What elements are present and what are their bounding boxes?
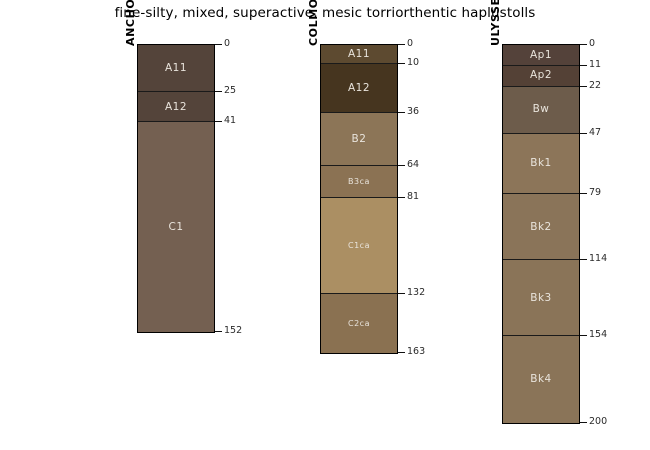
horizon-label: C1ca — [348, 242, 370, 250]
horizon-bw[interactable]: Bw — [503, 87, 579, 134]
profile-name-label: COLMOR — [307, 0, 320, 46]
horizon-b3ca[interactable]: B3ca — [321, 166, 397, 198]
depth-tick-label: 47 — [589, 128, 601, 138]
depth-tick-label: 132 — [407, 288, 425, 298]
depth-tick-label: 41 — [224, 116, 236, 126]
horizon-label: Bw — [533, 104, 550, 115]
depth-tick-mark — [398, 352, 405, 353]
depth-tick-label: 79 — [589, 188, 601, 198]
depth-tick-label: 114 — [589, 254, 607, 264]
horizon-label: B2 — [352, 134, 367, 145]
horizon-label: C2ca — [348, 320, 370, 328]
horizon-bk3[interactable]: Bk3 — [503, 260, 579, 336]
horizon-label: C1 — [168, 222, 183, 233]
depth-tick-label: 25 — [224, 86, 236, 96]
depth-tick-label: 11 — [589, 60, 601, 70]
horizon-a11[interactable]: A11 — [321, 45, 397, 64]
horizon-c2ca[interactable]: C2ca — [321, 294, 397, 353]
depth-tick-mark — [215, 331, 222, 332]
depth-tick-mark — [215, 44, 222, 45]
horizon-label: A11 — [348, 49, 370, 60]
depth-tick-label: 22 — [589, 81, 601, 91]
depth-tick-mark — [215, 91, 222, 92]
depth-tick-mark — [398, 44, 405, 45]
horizon-bk2[interactable]: Bk2 — [503, 194, 579, 260]
depth-tick-mark — [398, 197, 405, 198]
depth-tick-label: 0 — [589, 39, 595, 49]
depth-tick-label: 163 — [407, 347, 425, 357]
depth-tick-label: 10 — [407, 58, 419, 68]
depth-axis: 011224779114154200 — [580, 0, 626, 450]
depth-tick-label: 200 — [589, 417, 607, 427]
depth-tick-label: 0 — [407, 39, 413, 49]
depth-tick-label: 36 — [407, 107, 419, 117]
depth-tick-mark — [580, 133, 587, 134]
depth-tick-mark — [580, 86, 587, 87]
soil-profile-figure: fine-silty, mixed, superactive, mesic to… — [0, 0, 650, 450]
depth-tick-mark — [398, 112, 405, 113]
horizon-label: B3ca — [348, 178, 370, 186]
depth-tick-mark — [580, 65, 587, 66]
depth-tick-mark — [580, 193, 587, 194]
horizon-a12[interactable]: A12 — [321, 64, 397, 113]
profile-column: A11A12B2B3caC1caC2ca — [320, 44, 398, 354]
soil-profile-ulysses: ULYSSESAp1Ap2BwBk1Bk2Bk3Bk40112247791141… — [0, 0, 170, 450]
horizon-bk4[interactable]: Bk4 — [503, 336, 579, 423]
depth-tick-mark — [580, 422, 587, 423]
depth-axis: 010366481132163 — [398, 0, 444, 450]
horizon-label: Ap2 — [530, 70, 552, 81]
horizon-label: Bk3 — [530, 293, 551, 304]
depth-tick-mark — [398, 165, 405, 166]
horizon-label: Bk1 — [530, 158, 551, 169]
horizon-label: Bk4 — [530, 374, 551, 385]
horizon-bk1[interactable]: Bk1 — [503, 134, 579, 194]
depth-tick-mark — [398, 63, 405, 64]
depth-tick-mark — [398, 293, 405, 294]
depth-tick-mark — [580, 335, 587, 336]
depth-tick-label: 81 — [407, 192, 419, 202]
horizon-ap1[interactable]: Ap1 — [503, 45, 579, 66]
horizon-label: Bk2 — [530, 222, 551, 233]
depth-tick-mark — [215, 121, 222, 122]
depth-tick-label: 64 — [407, 160, 419, 170]
depth-axis: 02541152 — [215, 0, 261, 450]
profile-name-label: ULYSSES — [489, 0, 502, 46]
depth-tick-mark — [580, 44, 587, 45]
horizon-c1ca[interactable]: C1ca — [321, 198, 397, 294]
horizon-label: Ap1 — [530, 50, 552, 61]
horizon-ap2[interactable]: Ap2 — [503, 66, 579, 87]
profile-column: Ap1Ap2BwBk1Bk2Bk3Bk4 — [502, 44, 580, 424]
depth-tick-label: 154 — [589, 330, 607, 340]
depth-tick-mark — [580, 259, 587, 260]
depth-tick-label: 0 — [224, 39, 230, 49]
horizon-label: A12 — [348, 83, 370, 94]
depth-tick-label: 152 — [224, 326, 242, 336]
horizon-b2[interactable]: B2 — [321, 113, 397, 166]
